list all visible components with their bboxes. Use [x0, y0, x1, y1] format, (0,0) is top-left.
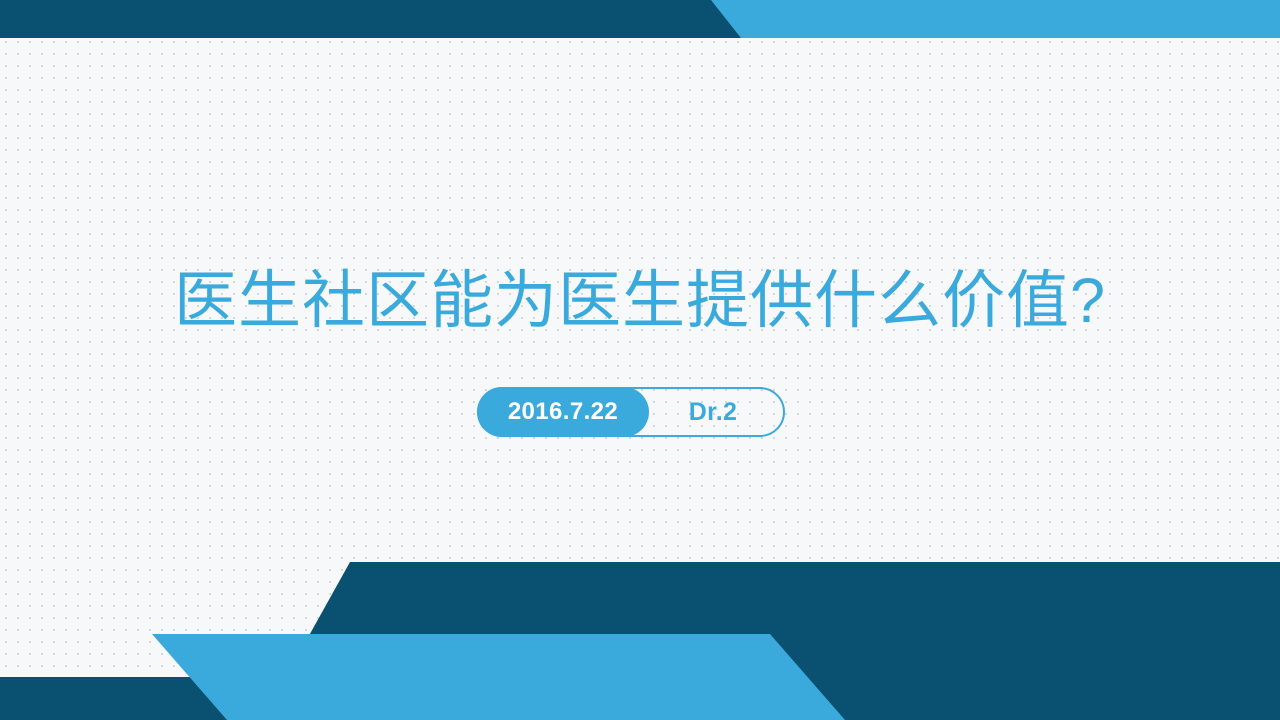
date-author-badge: 2016.7.22 Dr.2 — [477, 387, 785, 437]
title-block: 医生社区能为医生提供什么价值? — [0, 262, 1280, 340]
badge-date: 2016.7.22 — [477, 387, 649, 437]
bottom-decoration — [0, 540, 1280, 720]
top-banner-decoration — [0, 0, 1280, 40]
badge-author: Dr.2 — [649, 389, 783, 435]
page-title: 医生社区能为医生提供什么价值? — [0, 262, 1280, 340]
presentation-slide: 医生社区能为医生提供什么价值? 2016.7.22 Dr.2 — [0, 0, 1280, 720]
